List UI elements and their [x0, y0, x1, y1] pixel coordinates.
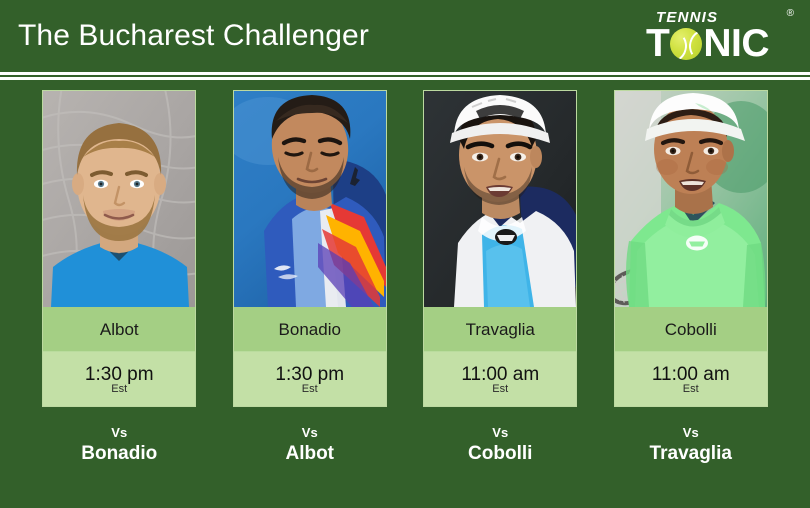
match-timezone: Est [302, 384, 318, 395]
versus-block: Vs Bonadio [81, 425, 157, 467]
versus-block: Vs Travaglia [650, 425, 732, 467]
match-time: 11:00 am [652, 365, 730, 385]
match-timezone: Est [683, 384, 699, 395]
match-time: 1:30 pm [85, 365, 154, 385]
player-photo-cobolli [615, 91, 767, 307]
versus-label: Vs [468, 425, 532, 441]
registered-trademark-icon: ® [787, 9, 794, 19]
versus-block: Vs Albot [285, 425, 334, 467]
player-name: Bonadio [279, 321, 341, 338]
player-photo-travaglia [424, 91, 576, 307]
opponent-name: Bonadio [81, 441, 157, 468]
match-time-band: 11:00 am Est [424, 352, 576, 406]
player-name-band: Albot [43, 307, 195, 352]
match-card-column: Albot 1:30 pm Est Vs Bonadio [39, 90, 199, 467]
logo-bottom-row: T NIC [646, 26, 769, 62]
versus-label: Vs [285, 425, 334, 441]
match-card-column: Bonadio 1:30 pm Est Vs Albot [230, 90, 390, 467]
match-card-column: Cobolli 11:00 am Est Vs Travaglia [611, 90, 771, 467]
versus-block: Vs Cobolli [468, 425, 532, 467]
player-name: Albot [100, 321, 139, 338]
player-photo-albot [43, 91, 195, 307]
player-name-band: Travaglia [424, 307, 576, 352]
tennis-ball-icon [670, 28, 702, 60]
match-time-band: 11:00 am Est [615, 352, 767, 406]
versus-label: Vs [650, 425, 732, 441]
player-name-band: Bonadio [234, 307, 386, 352]
match-timezone: Est [111, 384, 127, 395]
header-divider-inner-line [0, 75, 810, 77]
logo-letters-nic: NIC [703, 26, 769, 62]
versus-label: Vs [81, 425, 157, 441]
opponent-name: Cobolli [468, 441, 532, 468]
tennis-tonic-logo[interactable]: TENNIS T NIC ® [646, 7, 796, 65]
match-time: 11:00 am [461, 365, 539, 385]
match-time-band: 1:30 pm Est [43, 352, 195, 406]
player-name: Cobolli [665, 321, 717, 338]
player-name: Travaglia [466, 321, 535, 338]
match-time-band: 1:30 pm Est [234, 352, 386, 406]
page-title: The Bucharest Challenger [18, 21, 369, 51]
match-card[interactable]: Bonadio 1:30 pm Est [233, 90, 387, 407]
match-card[interactable]: Cobolli 11:00 am Est [614, 90, 768, 407]
match-card[interactable]: Albot 1:30 pm Est [42, 90, 196, 407]
opponent-name: Travaglia [650, 441, 732, 468]
page-header: The Bucharest Challenger TENNIS T NIC ® [0, 0, 810, 72]
opponent-name: Albot [285, 441, 334, 468]
match-time: 1:30 pm [275, 365, 344, 385]
match-card[interactable]: Travaglia 11:00 am Est [423, 90, 577, 407]
match-card-list: Albot 1:30 pm Est Vs Bonadio [0, 90, 810, 467]
player-photo-bonadio [234, 91, 386, 307]
logo-letter-t: T [646, 26, 669, 62]
header-divider [0, 72, 810, 80]
match-timezone: Est [492, 384, 508, 395]
match-card-column: Travaglia 11:00 am Est Vs Cobolli [420, 90, 580, 467]
player-name-band: Cobolli [615, 307, 767, 352]
